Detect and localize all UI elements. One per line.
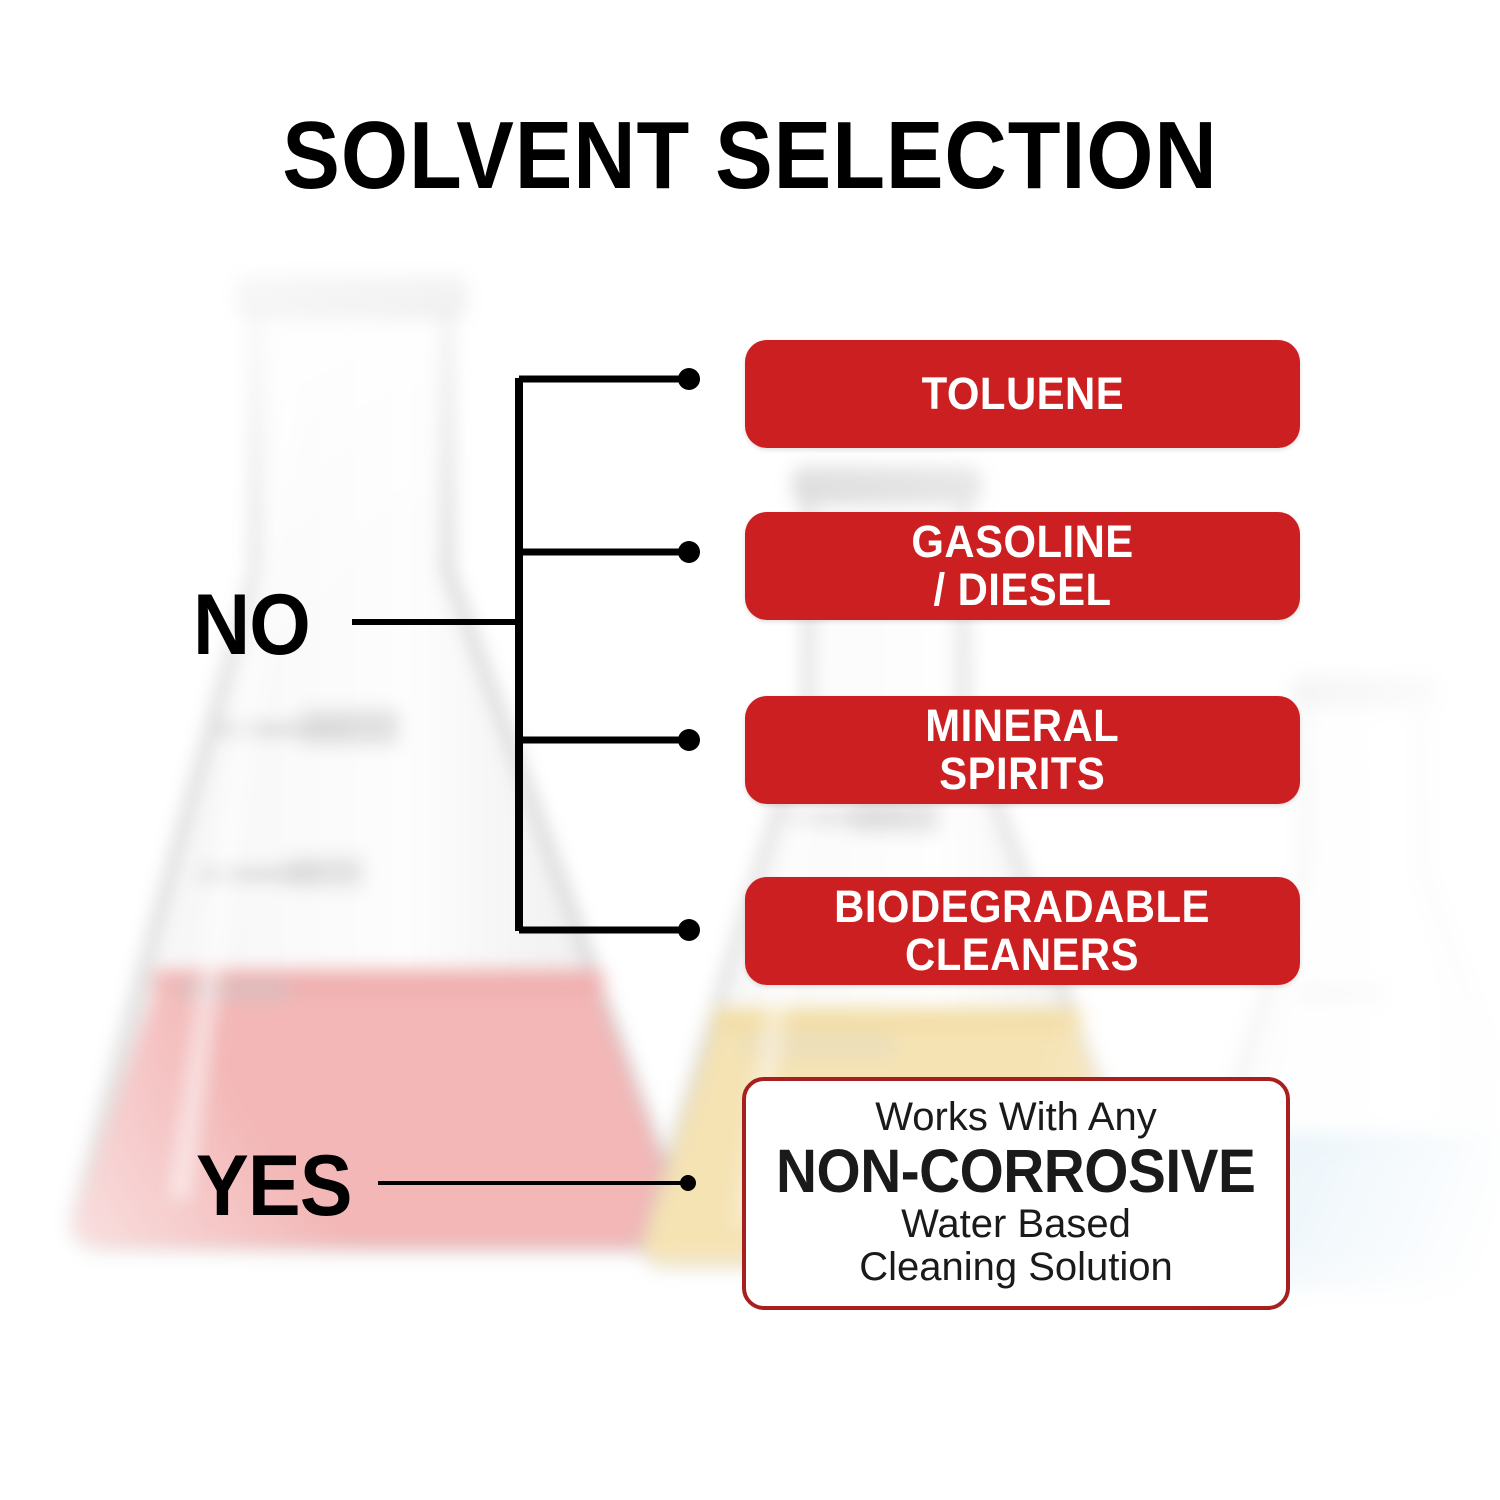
no-item-label: MINERAL SPIRITS: [926, 702, 1120, 797]
branch-label-no: NO: [193, 582, 310, 668]
page-title: SOLVENT SELECTION: [75, 108, 1425, 204]
no-item-badge-toluene[interactable]: TOLUENE: [745, 340, 1300, 448]
yes-intro-text: Works With Any: [875, 1096, 1157, 1138]
yes-headline-text: NON-CORROSIVE: [776, 1140, 1255, 1202]
no-item-label: TOLUENE: [921, 370, 1123, 418]
yes-item-callout-box[interactable]: Works With Any NON-CORROSIVE Water Based…: [742, 1077, 1290, 1310]
branch-label-yes: YES: [196, 1143, 352, 1229]
no-item-badge-biodegradable-cleaners[interactable]: BIODEGRADABLE CLEANERS: [745, 877, 1300, 985]
infographic-canvas: SOLVENT SELECTION NO YES TOLUENE GASOLIN…: [0, 0, 1500, 1500]
no-item-label: GASOLINE / DIESEL: [911, 518, 1133, 613]
no-item-label: BIODEGRADABLE CLEANERS: [835, 883, 1211, 978]
no-item-badge-gasoline-diesel[interactable]: GASOLINE / DIESEL: [745, 512, 1300, 620]
no-item-badge-mineral-spirits[interactable]: MINERAL SPIRITS: [745, 696, 1300, 804]
yes-sub-text: Water Based Cleaning Solution: [859, 1203, 1173, 1289]
